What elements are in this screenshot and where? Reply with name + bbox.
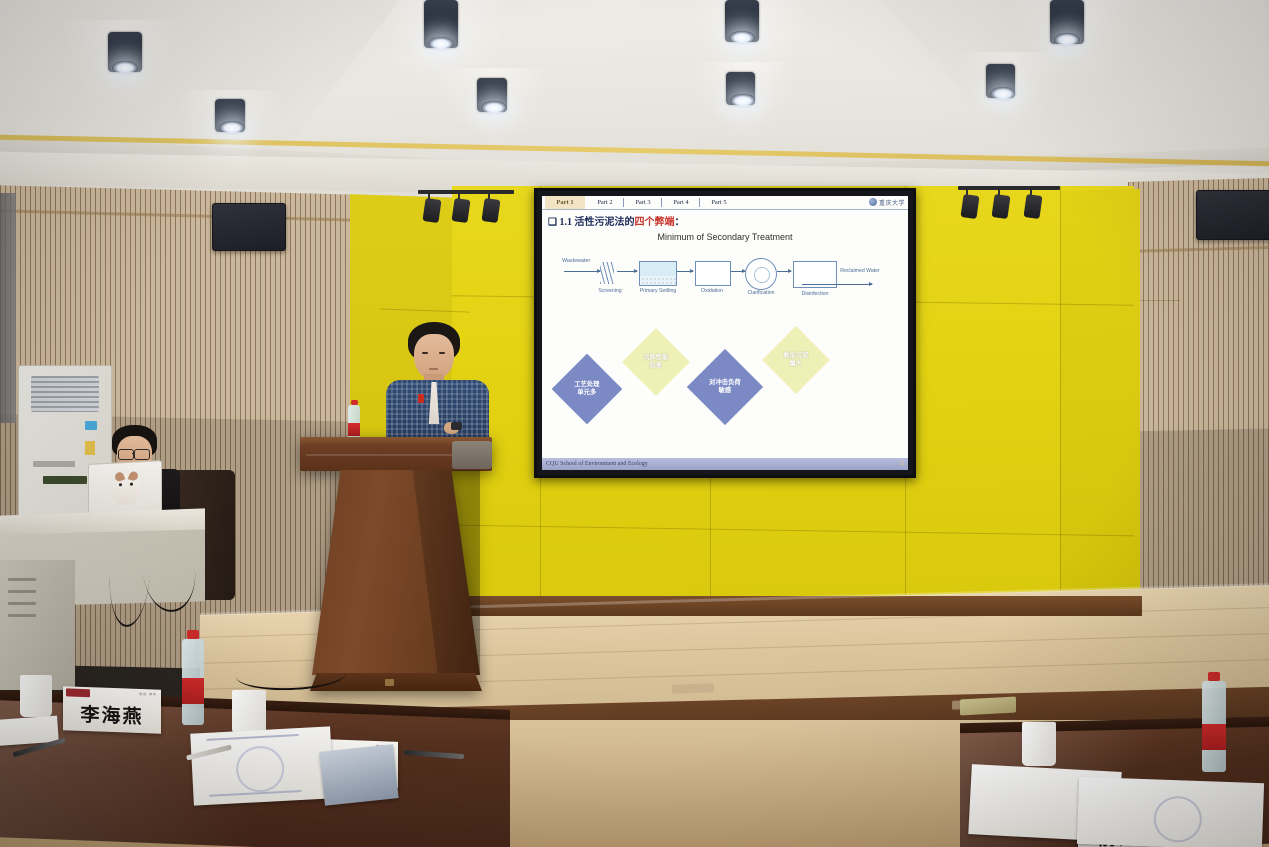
diagram-step-label: Disinfection [790, 291, 840, 297]
presentation-slide: Part 1 Part 2 Part 3 Part 4 Part 5 重庆大学 … [542, 196, 908, 470]
slide-tab-bar: Part 1 Part 2 Part 3 Part 4 Part 5 [542, 196, 908, 209]
presentation-clicker[interactable] [451, 422, 462, 430]
ceiling-light-2 [215, 99, 245, 132]
paper-cup-1 [20, 675, 52, 717]
spotlight [960, 194, 979, 219]
drawback-diamond-4: 剩余污泥 量大 [762, 326, 830, 394]
ceiling-light-5 [725, 0, 759, 42]
ac-brand [33, 461, 75, 467]
ceiling-light-3 [424, 0, 458, 48]
podium-emblem [385, 679, 394, 686]
wall-monitor-left [212, 203, 286, 251]
brochure-left [319, 744, 398, 805]
diagram-inlet-label: Wastewater [562, 258, 590, 264]
glasses-bridge [132, 453, 135, 454]
university-logo: 重庆大学 [869, 196, 905, 208]
clarifier-tank [745, 258, 777, 290]
speaker-eye-right [439, 352, 445, 354]
slide-tab-part-4[interactable]: Part 4 [664, 196, 698, 209]
diagram-outlet-label: Reclaimed Water [838, 268, 882, 275]
ac-label [85, 441, 95, 455]
ac-vent [31, 376, 99, 412]
slide-tab-part-5[interactable]: Part 5 [702, 196, 736, 209]
ceiling-light-6 [726, 72, 755, 105]
diagram-step-label: Clarification [738, 290, 784, 296]
drawback-diamond-1: 工艺处理 单元多 [552, 354, 623, 425]
booklet-seal-icon [235, 745, 285, 793]
drawback-diamond-2: 沉降性能 较差 [622, 328, 690, 396]
floor-marker [672, 683, 714, 693]
program-booklet [190, 726, 334, 805]
projection-screen: Part 1 Part 2 Part 3 Part 4 Part 5 重庆大学 … [534, 188, 916, 478]
wall-monitor-right [1196, 190, 1269, 240]
spotlight [1023, 194, 1042, 219]
speaker-badge [418, 394, 424, 403]
ac-display [43, 476, 87, 484]
yellow-wall-seam [1140, 300, 1180, 301]
nameplate-name: 李海燕 [80, 699, 143, 728]
logo-seal-icon [869, 198, 877, 206]
slide-tab-part-3[interactable]: Part 3 [626, 196, 660, 209]
speaker-eye-left [422, 352, 428, 354]
ac-indicator [85, 421, 97, 430]
nameplate-university-logo [66, 688, 90, 697]
water-bottle-right [1200, 672, 1228, 772]
wall-curtain-left [0, 193, 16, 423]
glasses-left-lens [118, 449, 134, 460]
speaker-mouth [429, 368, 438, 370]
paper-cup-2 [232, 690, 266, 734]
water-bottle-left [180, 630, 206, 725]
diagram-step-label: Primary Settling [638, 288, 678, 294]
oxidation-tank [695, 261, 731, 286]
slide-tab-part-2[interactable]: Part 2 [588, 196, 622, 209]
ceiling-light-8 [1050, 0, 1084, 44]
slide-footer: CQU School of Environment and Ecology 11 [542, 458, 908, 470]
equipment-cabinet [0, 560, 75, 690]
slide-tab-part-1[interactable]: Part 1 [545, 196, 585, 209]
spotlight [451, 198, 470, 223]
yellow-wall-right-return [1060, 189, 1140, 611]
diagram-step-label: Screening [590, 288, 630, 294]
slide-title: ❑ 1.1 活性污泥法的四个弊端： [548, 213, 684, 228]
ceiling-light-4 [477, 78, 507, 112]
spotlight [481, 198, 500, 223]
nameplate-li-haiyan: 教授 博导 李海燕 [63, 686, 161, 733]
spotlight [991, 194, 1010, 219]
process-flow-diagram: Wastewater Screening Primary Settling Ox… [562, 258, 882, 328]
lecture-hall-photo: Part 1 Part 2 Part 3 Part 4 Part 5 重庆大学 … [0, 0, 1269, 847]
podium-side-shelf [452, 441, 492, 469]
light-track-right [958, 186, 1060, 190]
diagram-step-label: Oxidation [692, 288, 732, 294]
spotlight [422, 198, 441, 223]
drawback-diamond-3: 对冲击负荷 敏感 [687, 349, 763, 425]
yellow-wall-seam [1060, 186, 1061, 616]
paper-cup-3 [1022, 722, 1056, 766]
slide-subtitle: Minimum of Secondary Treatment [542, 232, 908, 242]
ceiling-light-1 [108, 32, 142, 72]
primary-settling-tank [639, 261, 677, 286]
document-seal-icon [1153, 795, 1203, 843]
documents-right-2 [1077, 777, 1264, 847]
nameplate-subtitle: 教授 博导 [139, 692, 157, 697]
screening-bars-icon [600, 262, 614, 284]
tabletop-card [960, 697, 1016, 716]
light-track-left [418, 190, 514, 194]
slide-tab-underline [542, 209, 908, 210]
glasses-right-lens [134, 449, 150, 460]
